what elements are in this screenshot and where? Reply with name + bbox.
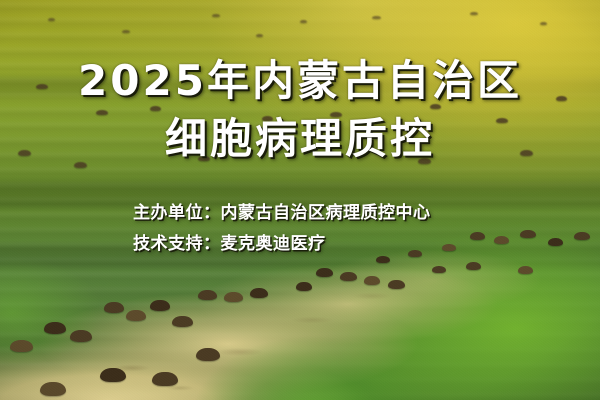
title-line-2: 细胞病理质控 [0,110,600,168]
poster-content: 2025年内蒙古自治区 细胞病理质控 主办单位：内蒙古自治区病理质控中心 技术支… [0,0,600,400]
subtitle-tech-support: 技术支持：麦克奥迪医疗 [133,229,473,260]
poster-canvas: 2025年内蒙古自治区 细胞病理质控 主办单位：内蒙古自治区病理质控中心 技术支… [0,0,600,400]
title-line-1: 2025年内蒙古自治区 [0,52,600,110]
subtitle-organizer: 主办单位：内蒙古自治区病理质控中心 [133,198,473,229]
poster-title: 2025年内蒙古自治区 细胞病理质控 [0,52,600,168]
poster-subtitles: 主办单位：内蒙古自治区病理质控中心 技术支持：麦克奥迪医疗 [133,198,473,260]
